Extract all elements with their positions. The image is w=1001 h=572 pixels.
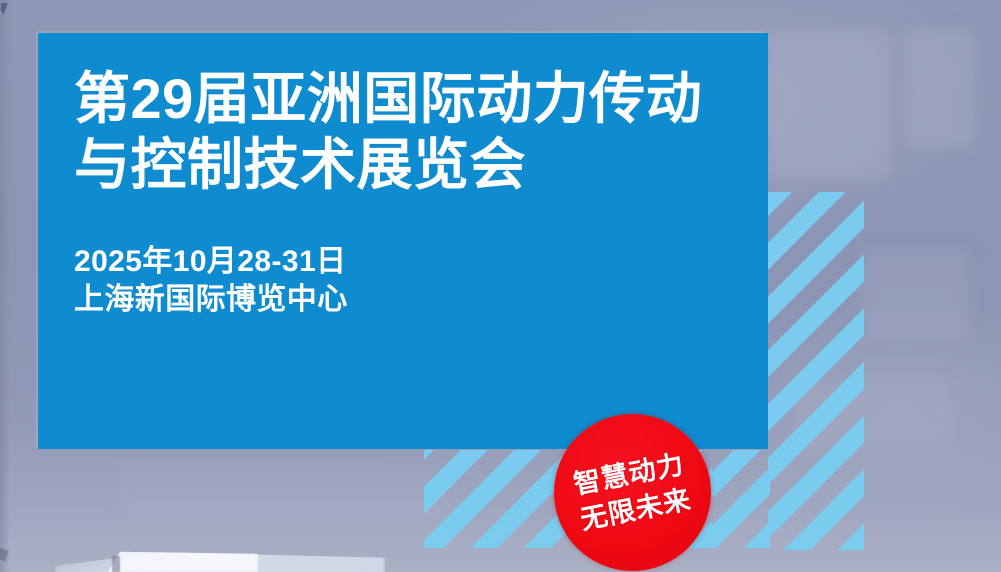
background-ghost-shape [770, 30, 890, 180]
poster-title-line-1: 第29届亚洲国际动力传动 [74, 67, 748, 131]
background-ghost-shape [905, 28, 975, 148]
panel-content: 第29届亚洲国际动力传动 与控制技术展览会 2025年10月28-31日 上海新… [74, 67, 748, 319]
slogan-seal-text: 智慧动力 无限未来 [554, 414, 711, 571]
poster-title-line-2: 与控制技术展览会 [74, 133, 748, 197]
blue-title-panel: 第29届亚洲国际动力传动 与控制技术展览会 2025年10月28-31日 上海新… [38, 33, 768, 449]
background-building-detail [112, 556, 120, 572]
poster-subtitle: 2025年10月28-31日 上海新国际博览中心 [74, 243, 748, 320]
slogan-seal-badge: 智慧动力 无限未来 [554, 414, 711, 571]
event-date: 2025年10月28-31日 [74, 243, 748, 281]
background-ghost-shape [860, 250, 970, 340]
event-venue: 上海新国际博览中心 [74, 281, 748, 319]
diagonal-stripes-bottom-right [712, 450, 770, 548]
diagonal-stripes-right [768, 192, 864, 550]
background-ghost-shape [120, 470, 450, 518]
exhibition-poster: 第29届亚洲国际动力传动 与控制技术展览会 2025年10月28-31日 上海新… [0, 0, 1001, 572]
